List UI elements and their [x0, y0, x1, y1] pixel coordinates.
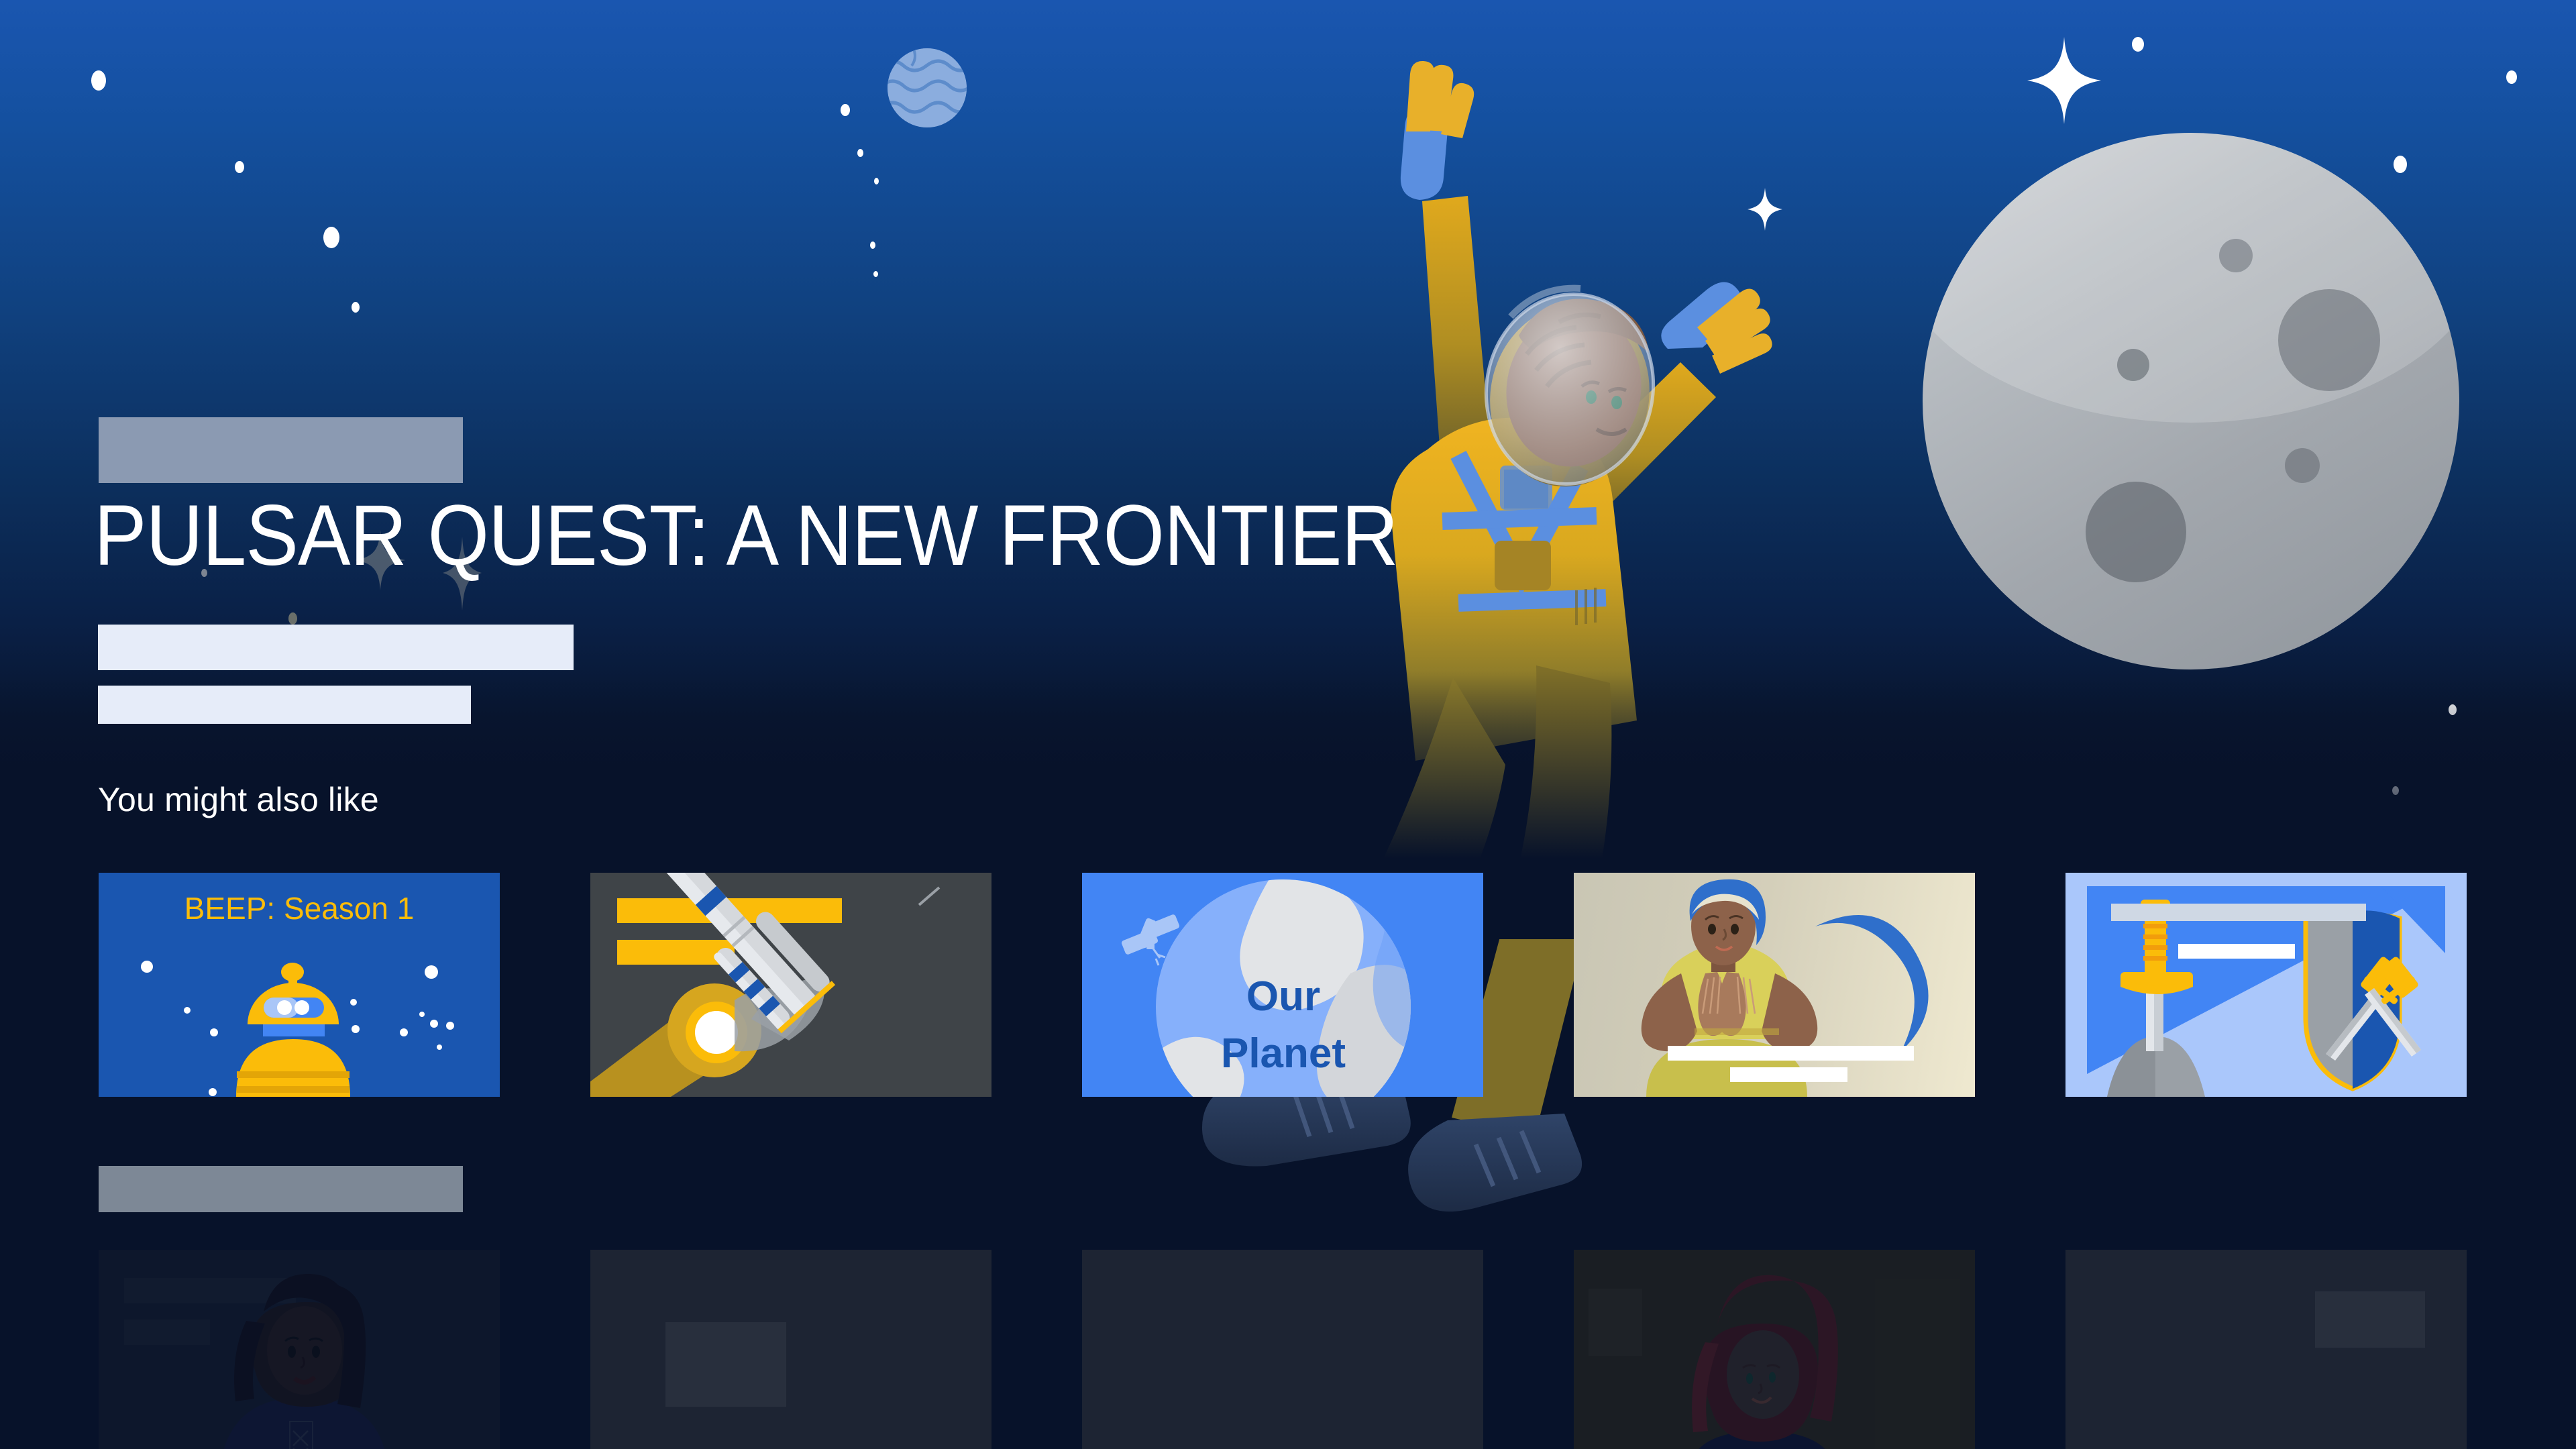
card-meditation-placeholder-2: [1730, 1067, 1847, 1082]
section-heading-placeholder-2: [99, 1166, 463, 1212]
card-rocket[interactable]: [590, 873, 991, 1097]
app-stage: PULSAR QUEST: A NEW FRONTIER You might a…: [0, 0, 2576, 1449]
card-row2-3[interactable]: [1082, 1250, 1483, 1449]
card-row2-5[interactable]: [2065, 1250, 2467, 1449]
page-title: PULSAR QUEST: A NEW FRONTIER: [94, 493, 1398, 579]
card-title-beep: BEEP: Season 1: [99, 890, 500, 926]
card-row2-1[interactable]: [99, 1250, 500, 1449]
card-row2-4[interactable]: [1574, 1250, 1975, 1449]
card-row2-2-placeholder: [665, 1322, 786, 1407]
carousel-row-1[interactable]: BEEP: Season 1: [0, 873, 2576, 1097]
card-our-planet[interactable]: Our Planet: [1082, 873, 1483, 1097]
hero-eyebrow-placeholder: [99, 417, 463, 483]
hero-subtitle-placeholder-1: [98, 625, 574, 670]
card-meditation[interactable]: [1574, 873, 1975, 1097]
carousel-row-2[interactable]: [0, 1250, 2576, 1449]
card-row2-1-dim-overlay: [99, 1250, 500, 1449]
card-meditation-placeholder-1: [1668, 1046, 1914, 1061]
svg-text:Planet: Planet: [1221, 1030, 1346, 1077]
card-row2-5-placeholder: [2315, 1291, 2425, 1348]
card-row2-4-dim-overlay: [1574, 1250, 1975, 1449]
svg-text:Our: Our: [1246, 973, 1320, 1020]
sparkle-star-icon: [2027, 37, 2101, 124]
moon-illustration: [1923, 133, 2459, 669]
hero-subtitle-placeholder-2: [98, 686, 471, 724]
section-heading-you-might-also-like: You might also like: [98, 780, 379, 819]
card-beep-season-1[interactable]: BEEP: Season 1: [99, 873, 500, 1097]
card-row2-2[interactable]: [590, 1250, 991, 1449]
card-sword-and-shield[interactable]: [2065, 873, 2467, 1097]
